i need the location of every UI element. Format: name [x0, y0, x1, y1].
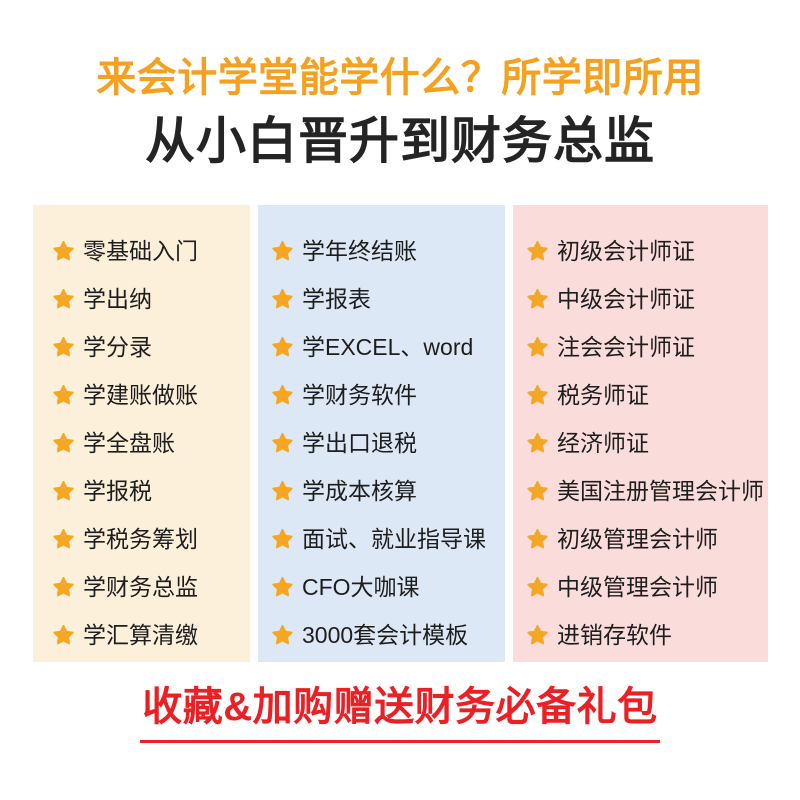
list-item-label: 3000套会计模板 [302, 622, 468, 648]
list-item[interactable]: 学年终结账 [258, 227, 505, 275]
list-item[interactable]: 学EXCEL、word [258, 323, 505, 371]
list-item[interactable]: 学建账做账 [33, 371, 250, 419]
star-icon [53, 625, 74, 646]
list-item-label: 学财务软件 [302, 382, 417, 408]
list-item[interactable]: 面试、就业指导课 [258, 515, 505, 563]
star-icon [527, 577, 548, 598]
list-item-label: 学汇算清缴 [83, 622, 198, 648]
list-item[interactable]: 零基础入门 [33, 227, 250, 275]
list-item[interactable]: 初级管理会计师 [513, 515, 768, 563]
list-item[interactable]: 学出纳 [33, 275, 250, 323]
list-item-label: 进销存软件 [557, 622, 672, 648]
list-item-label: CFO大咖课 [302, 574, 420, 600]
list-item[interactable]: 美国注册管理会计师 [513, 467, 768, 515]
star-icon [53, 433, 74, 454]
star-icon [53, 289, 74, 310]
star-icon [53, 481, 74, 502]
list-item-label: 经济师证 [557, 430, 649, 456]
list-item[interactable]: 学财务总监 [33, 563, 250, 611]
feature-columns: 零基础入门学出纳学分录学建账做账学全盘账学报税学税务筹划学财务总监学汇算清缴学年… [33, 205, 768, 662]
list-item-label: 学报表 [302, 286, 371, 312]
poster-footer: 收藏&加购赠送财务必备礼包 [0, 682, 800, 743]
list-item-label: 学全盘账 [83, 430, 175, 456]
list-item-label: 税务师证 [557, 382, 649, 408]
list-item[interactable]: 学汇算清缴 [33, 611, 250, 659]
footer-underline [140, 740, 660, 743]
list-item-label: 学EXCEL、word [302, 334, 473, 360]
poster-header: 来会计学堂能学什么？所学即所用 从小白晋升到财务总监 [0, 0, 800, 174]
list-item[interactable]: 中级会计师证 [513, 275, 768, 323]
list-item[interactable]: 税务师证 [513, 371, 768, 419]
star-icon [527, 289, 548, 310]
star-icon [527, 625, 548, 646]
promo-poster: 来会计学堂能学什么？所学即所用 从小白晋升到财务总监 零基础入门学出纳学分录学建… [0, 0, 800, 800]
star-icon [527, 385, 548, 406]
star-icon [272, 337, 293, 358]
list-item[interactable]: 学财务软件 [258, 371, 505, 419]
list-item-label: 零基础入门 [83, 238, 198, 264]
list-item-label: 初级会计师证 [557, 238, 695, 264]
star-icon [53, 337, 74, 358]
star-icon [53, 241, 74, 262]
list-item[interactable]: 学报税 [33, 467, 250, 515]
list-item-label: 学报税 [83, 478, 152, 504]
star-icon [53, 529, 74, 550]
star-icon [272, 481, 293, 502]
star-icon [53, 577, 74, 598]
feature-column-certifications: 初级会计师证中级会计师证注会会计师证税务师证经济师证美国注册管理会计师初级管理会… [513, 205, 768, 662]
star-icon [272, 625, 293, 646]
star-icon [272, 577, 293, 598]
list-item[interactable]: 学税务筹划 [33, 515, 250, 563]
list-item[interactable]: 3000套会计模板 [258, 611, 505, 659]
list-item-label: 注会会计师证 [557, 334, 695, 360]
list-item-label: 学年终结账 [302, 238, 417, 264]
list-item[interactable]: 学出口退税 [258, 419, 505, 467]
list-item-label: 学分录 [83, 334, 152, 360]
star-icon [272, 289, 293, 310]
list-item-label: 学出口退税 [302, 430, 417, 456]
star-icon [272, 433, 293, 454]
list-item[interactable]: 初级会计师证 [513, 227, 768, 275]
headline-primary: 来会计学堂能学什么？所学即所用 [0, 52, 800, 104]
list-item[interactable]: 注会会计师证 [513, 323, 768, 371]
star-icon [53, 385, 74, 406]
list-item[interactable]: 学成本核算 [258, 467, 505, 515]
list-item-label: 学出纳 [83, 286, 152, 312]
star-icon [527, 481, 548, 502]
star-icon [272, 241, 293, 262]
star-icon [527, 241, 548, 262]
star-icon [272, 529, 293, 550]
list-item[interactable]: 进销存软件 [513, 611, 768, 659]
feature-column-practical-skills: 学年终结账学报表学EXCEL、word学财务软件学出口退税学成本核算面试、就业指… [258, 205, 505, 662]
feature-column-foundation-skills: 零基础入门学出纳学分录学建账做账学全盘账学报税学税务筹划学财务总监学汇算清缴 [33, 205, 250, 662]
list-item-label: 学税务筹划 [83, 526, 198, 552]
list-item-label: 学财务总监 [83, 574, 198, 600]
list-item[interactable]: 学全盘账 [33, 419, 250, 467]
list-item[interactable]: 中级管理会计师 [513, 563, 768, 611]
list-item[interactable]: 学分录 [33, 323, 250, 371]
list-item[interactable]: CFO大咖课 [258, 563, 505, 611]
list-item-label: 美国注册管理会计师 [557, 478, 764, 504]
list-item-label: 面试、就业指导课 [302, 526, 486, 552]
list-item[interactable]: 经济师证 [513, 419, 768, 467]
list-item[interactable]: 学报表 [258, 275, 505, 323]
star-icon [527, 337, 548, 358]
list-item-label: 中级管理会计师 [557, 574, 718, 600]
footer-promo-text: 收藏&加购赠送财务必备礼包 [0, 682, 800, 732]
list-item-label: 中级会计师证 [557, 286, 695, 312]
star-icon [272, 385, 293, 406]
headline-secondary: 从小白晋升到财务总监 [0, 108, 800, 174]
list-item-label: 学成本核算 [302, 478, 417, 504]
list-item-label: 学建账做账 [83, 382, 198, 408]
star-icon [527, 529, 548, 550]
list-item-label: 初级管理会计师 [557, 526, 718, 552]
star-icon [527, 433, 548, 454]
